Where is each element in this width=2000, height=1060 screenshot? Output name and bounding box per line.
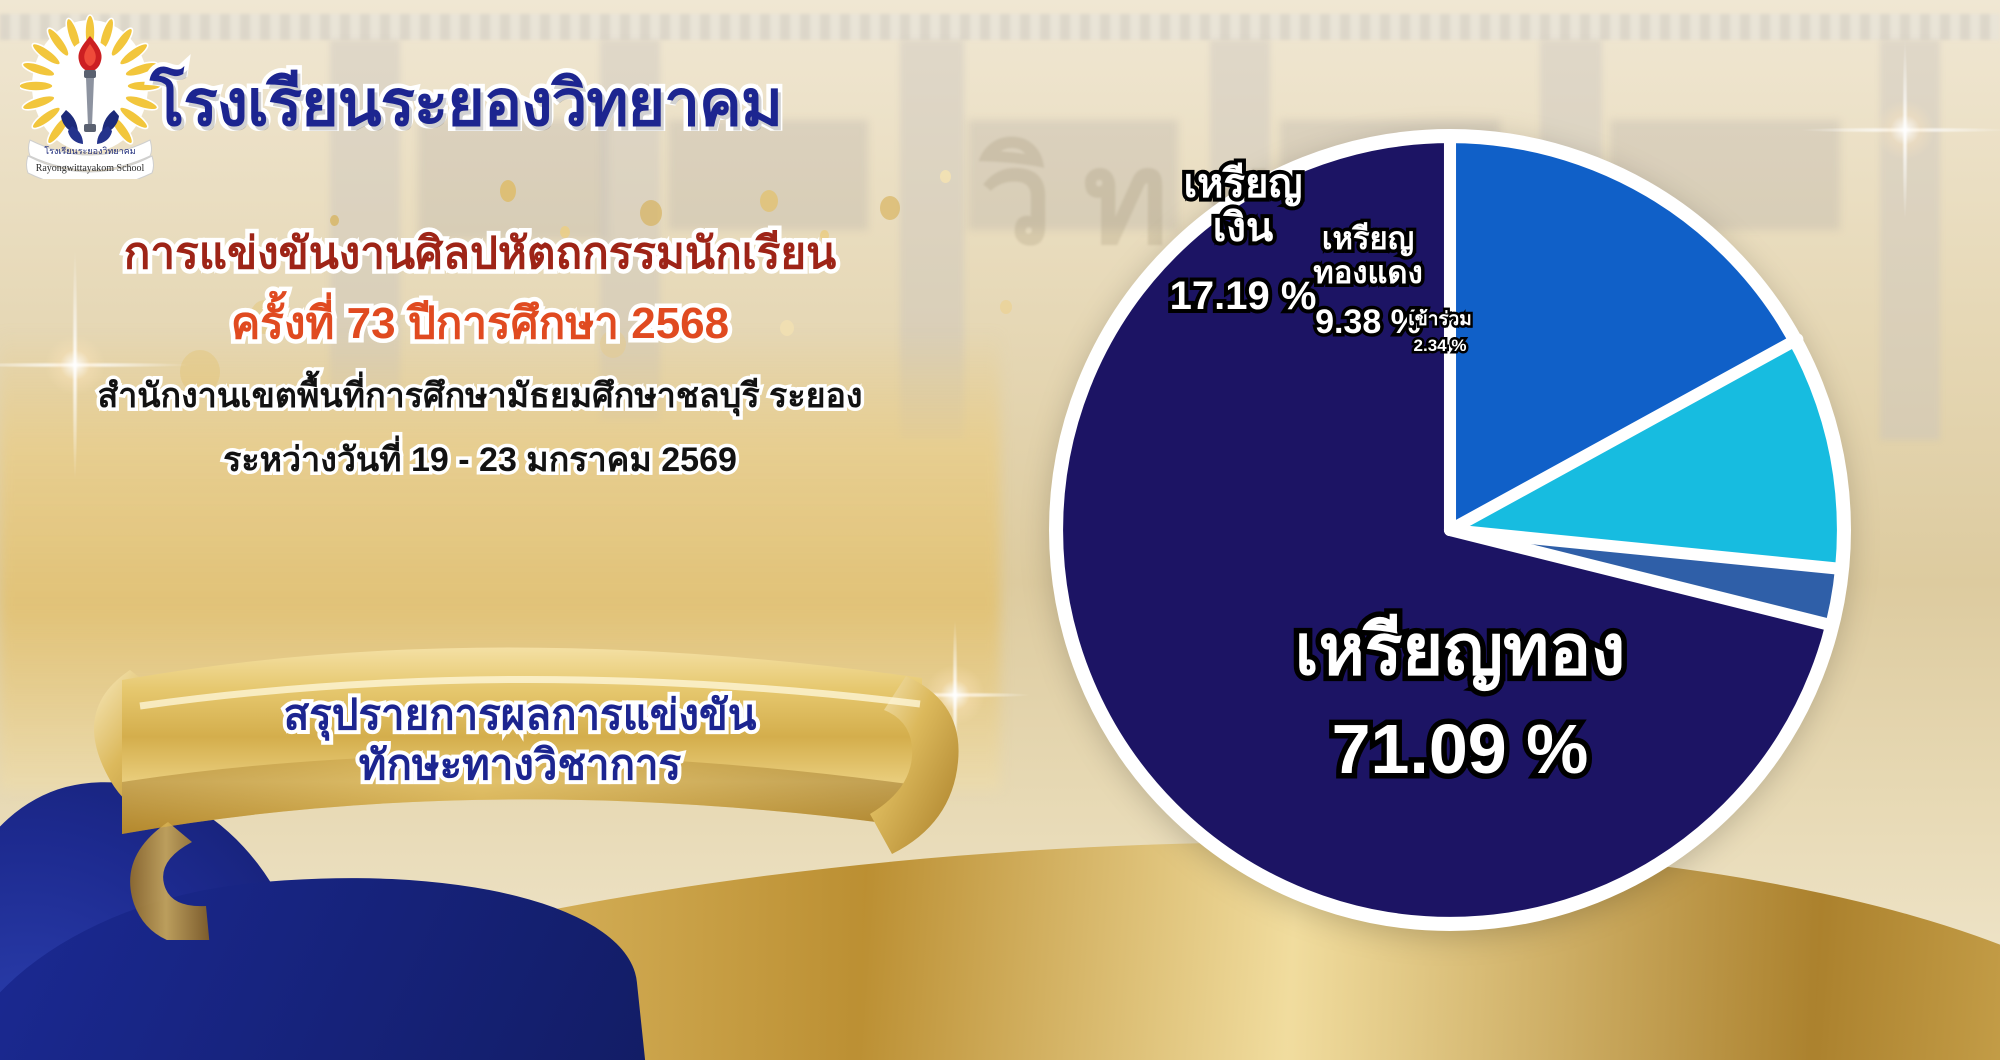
pie-label-bronze-line1: เหรียญ — [1322, 221, 1414, 256]
pie-value-gold: 71.09 % — [1190, 711, 1730, 788]
pie-label-bronze-line2: ทองแดง — [1313, 255, 1422, 290]
event-date-line: ระหว่างวันที่ 19 - 23 มกราคม 2569 — [40, 432, 920, 486]
page-title: โรงเรียนระยองวิทยาคม — [150, 52, 782, 154]
roofline-decor — [0, 14, 2000, 40]
pie-label-silver-line2: เงิน — [1213, 206, 1274, 250]
pie-label-gold: เหรียญทอง 71.09 % — [1190, 612, 1730, 788]
education-office-line: สำนักงานเขตพื้นที่การศึกษามัธยมศึกษาชลบุ… — [40, 368, 920, 422]
poster-canvas: วิทยาคม — [0, 0, 2000, 1060]
ribbon-caption-line1: สรุปรายการผลการแข่งขัน — [130, 690, 910, 740]
pie-value-join: 2.34 % — [1380, 337, 1500, 356]
ribbon-caption: สรุปรายการผลการแข่งขัน ทักษะทางวิชาการ — [130, 690, 910, 789]
school-logo: โรงเรียนระยองวิทยาคม Rayongwittayakom Sc… — [20, 14, 170, 179]
pie-label-join: เข้าร่วม 2.34 % — [1380, 310, 1500, 356]
svg-text:โรงเรียนระยองวิทยาคม: โรงเรียนระยองวิทยาคม — [44, 146, 135, 156]
svg-text:Rayongwittayakom School: Rayongwittayakom School — [36, 163, 145, 174]
event-title-line1: การแข่งขันงานศิลปหัตถกรรมนักเรียน — [60, 218, 900, 288]
pie-label-gold-line1: เหรียญทอง — [1295, 611, 1626, 689]
event-title-line2: ครั้งที่ 73 ปีการศึกษา 2568 — [60, 288, 900, 358]
ribbon-caption-line2: ทักษะทางวิชาการ — [130, 740, 910, 790]
pie-label-join-line1: เข้าร่วม — [1408, 309, 1472, 330]
pie-label-silver-line1: เหรียญ — [1183, 162, 1302, 206]
